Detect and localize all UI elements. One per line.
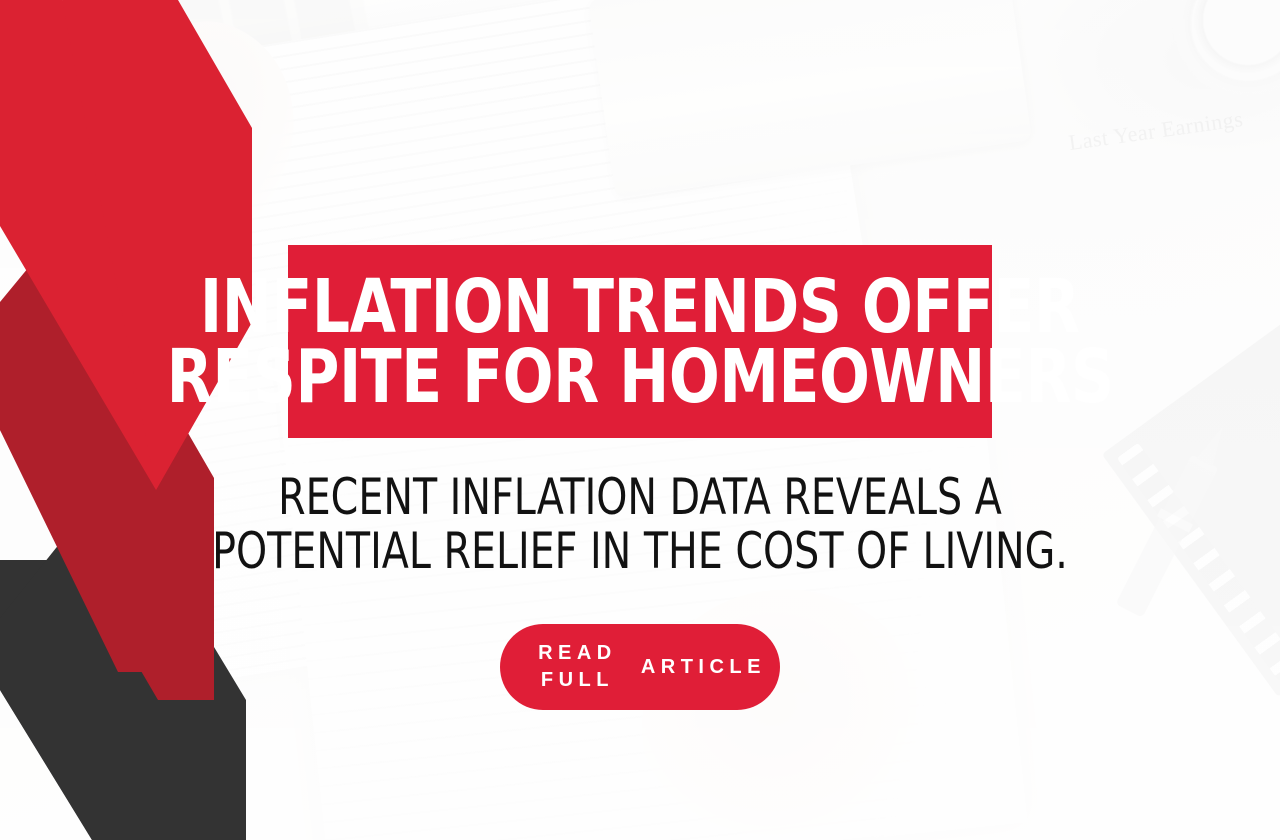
subtitle-line-2: POTENTIAL RELIEF IN THE COST OF LIVING.: [77, 524, 1203, 578]
subtitle-line-1: RECENT INFLATION DATA REVEALS A: [77, 470, 1203, 524]
subtitle-block: RECENT INFLATION DATA REVEALS A POTENTIA…: [0, 470, 1280, 578]
cta-line-2: ARTICLE: [641, 654, 766, 681]
headline-banner: INFLATION TRENDS OFFER RESPITE FOR HOMEO…: [288, 245, 992, 438]
headline-line-2: RESPITE FOR HOMEOWNERS: [166, 343, 1113, 413]
content-layer: INFLATION TRENDS OFFER RESPITE FOR HOMEO…: [0, 0, 1280, 840]
headline-line-1: INFLATION TRENDS OFFER: [200, 273, 1080, 343]
social-card: Last Year Earnings: [0, 0, 1280, 840]
cta-line-1: READ FULL: [514, 640, 641, 694]
read-full-article-button[interactable]: READ FULL ARTICLE: [500, 624, 780, 710]
